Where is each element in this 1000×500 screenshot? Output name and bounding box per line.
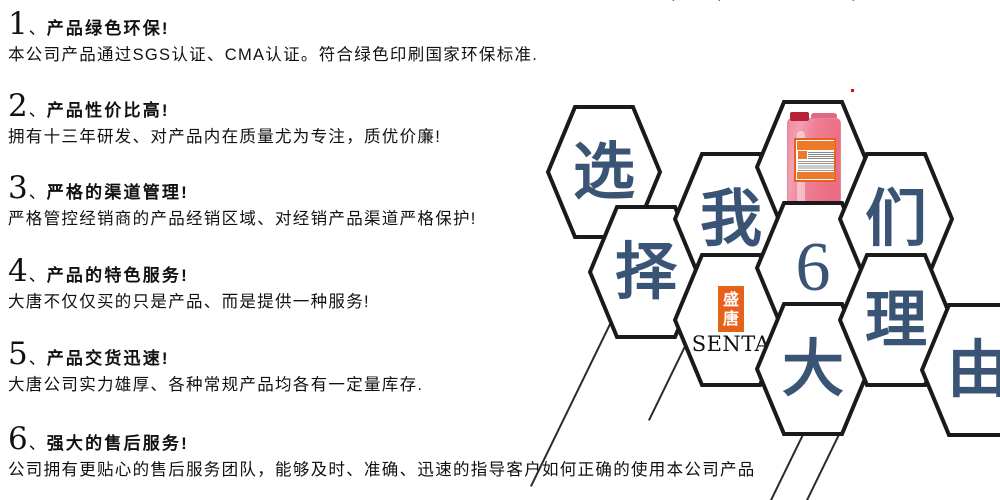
label-logo-square (798, 151, 807, 159)
label-footer-band (797, 172, 835, 179)
jerrycan-label (794, 138, 836, 182)
label-header-band (797, 141, 835, 150)
jerrycan-cap (790, 112, 809, 121)
label-title-lines (808, 152, 834, 159)
logo-seal-char-bottom: 唐 (723, 309, 739, 328)
hex-cell-you: 由 (920, 303, 1000, 437)
logo-seal-char-top: 盛 (723, 290, 739, 309)
honeycomb-graphic: 选 择 我 盛 唐 SENTA (0, 0, 1000, 500)
logo-seal-mark-icon: 盛 唐 (718, 286, 744, 332)
banner-canvas: 1 、 产品绿色环保! 本公司产品通过SGS认证、CMA认证。符合绿色印刷国家环… (0, 0, 1000, 500)
hex-label: 由 (920, 303, 1000, 437)
